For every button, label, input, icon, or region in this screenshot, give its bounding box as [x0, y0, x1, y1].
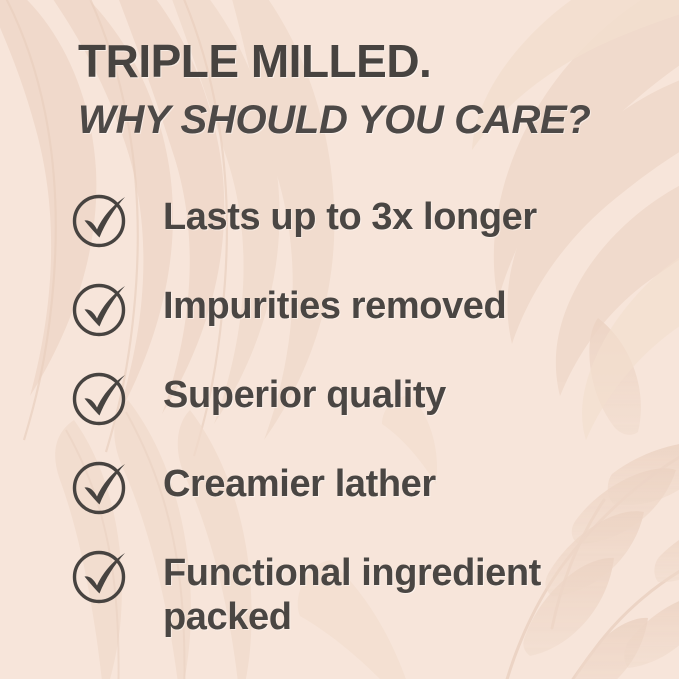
- list-item-label: Functional ingredient packed: [163, 541, 583, 640]
- list-item: Creamier lather: [0, 452, 679, 541]
- list-item-label: Creamier lather: [163, 452, 583, 506]
- heading-block: TRIPLE MILLED. WHY SHOULD YOU CARE?: [78, 38, 638, 140]
- page-title: TRIPLE MILLED.: [78, 38, 638, 84]
- list-item: Functional ingredient packed: [0, 541, 679, 630]
- list-item-label: Lasts up to 3x longer: [163, 185, 583, 239]
- benefits-list: Lasts up to 3x longer Impurities removed: [0, 185, 679, 630]
- check-circle-icon: [72, 547, 134, 609]
- list-item-label: Superior quality: [163, 363, 583, 417]
- check-circle-icon: [72, 458, 134, 520]
- page-subtitle: WHY SHOULD YOU CARE?: [78, 84, 638, 140]
- list-item-label: Impurities removed: [163, 274, 583, 328]
- check-circle-icon: [72, 280, 134, 342]
- list-item: Lasts up to 3x longer: [0, 185, 679, 274]
- check-circle-icon: [72, 369, 134, 431]
- poster-content: TRIPLE MILLED. WHY SHOULD YOU CARE? Last…: [0, 0, 679, 679]
- product-benefits-poster: TRIPLE MILLED. WHY SHOULD YOU CARE? Last…: [0, 0, 679, 679]
- check-circle-icon: [72, 191, 134, 253]
- list-item: Superior quality: [0, 363, 679, 452]
- list-item: Impurities removed: [0, 274, 679, 363]
